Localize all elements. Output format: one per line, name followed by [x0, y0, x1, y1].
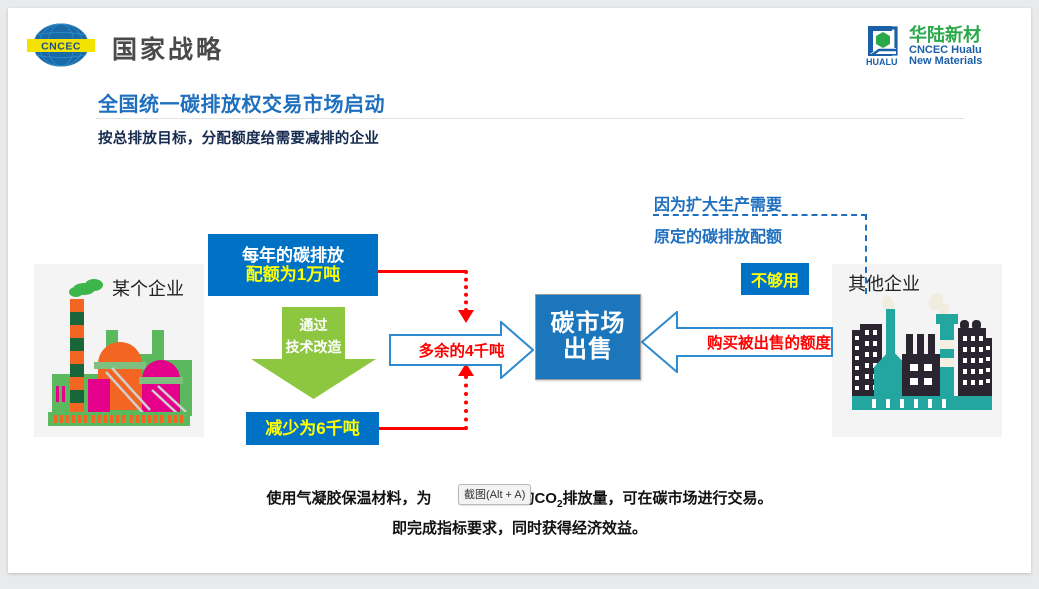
hualu-mark-text: HUALU — [866, 57, 898, 67]
hualu-logo: HUALU 华陆新材 CNCEC Hualu New Materials — [862, 20, 1017, 68]
red-dashed-down — [464, 270, 468, 312]
red-connector-top — [363, 270, 467, 273]
reduced-line1: 减少为6千吨 — [265, 419, 359, 438]
insufficient-badge: 不够用 — [741, 263, 809, 295]
left-enterprise-caption: 某个企业 — [112, 275, 184, 301]
carbon-market-box: 碳市场 出售 — [535, 294, 641, 380]
hualu-cn-name: 华陆新材 — [909, 24, 981, 46]
footer-line-2: 即完成指标要求，同时获得经济效益。 — [8, 517, 1031, 538]
red-dashed-up — [464, 375, 468, 430]
market-line1: 碳市场 — [551, 311, 626, 337]
purchase-arrow: 购买被出售的额度 — [641, 311, 833, 373]
cncec-logo-text: CNCEC — [41, 41, 81, 53]
page-subtitle: 按总排放目标，分配额度给需要减排的企业 — [98, 127, 379, 148]
reduced-emission-box: 减少为6千吨 — [246, 412, 379, 445]
cncec-logo: CNCEC — [22, 22, 100, 68]
title-divider — [96, 118, 964, 119]
surplus-arrow: 多余的4千吨 — [389, 321, 534, 379]
market-line2: 出售 — [563, 337, 613, 363]
footer-text-part3: 排放量，可在碳市场进行交易。 — [563, 490, 773, 507]
hualu-en-line2: New Materials — [909, 55, 982, 67]
allowance-line1: 每年的碳排放 — [242, 246, 344, 265]
allowance-line2: 配额为1万吨 — [246, 265, 340, 284]
callout-line1: 因为扩大生产需要 — [654, 191, 782, 215]
hualu-mark-icon — [868, 26, 896, 56]
callout-line2: 原定的碳排放配额 — [654, 223, 782, 247]
slide-canvas: CNCEC 国家战略 HUALU 华陆新材 CNCEC Hualu New Ma… — [8, 8, 1031, 573]
brand-title: 国家战略 — [112, 30, 224, 66]
snip-tooltip[interactable]: 截图(Alt + A) — [458, 484, 531, 505]
green-transform-arrow: 通过 技术改造 — [251, 307, 376, 399]
page-title: 全国统一碳排放权交易市场启动 — [98, 88, 385, 117]
annual-allowance-box: 每年的碳排放 配额为1万吨 — [208, 234, 378, 296]
footer-text-part1: 使用气凝胶保温材料，为 — [266, 490, 431, 507]
